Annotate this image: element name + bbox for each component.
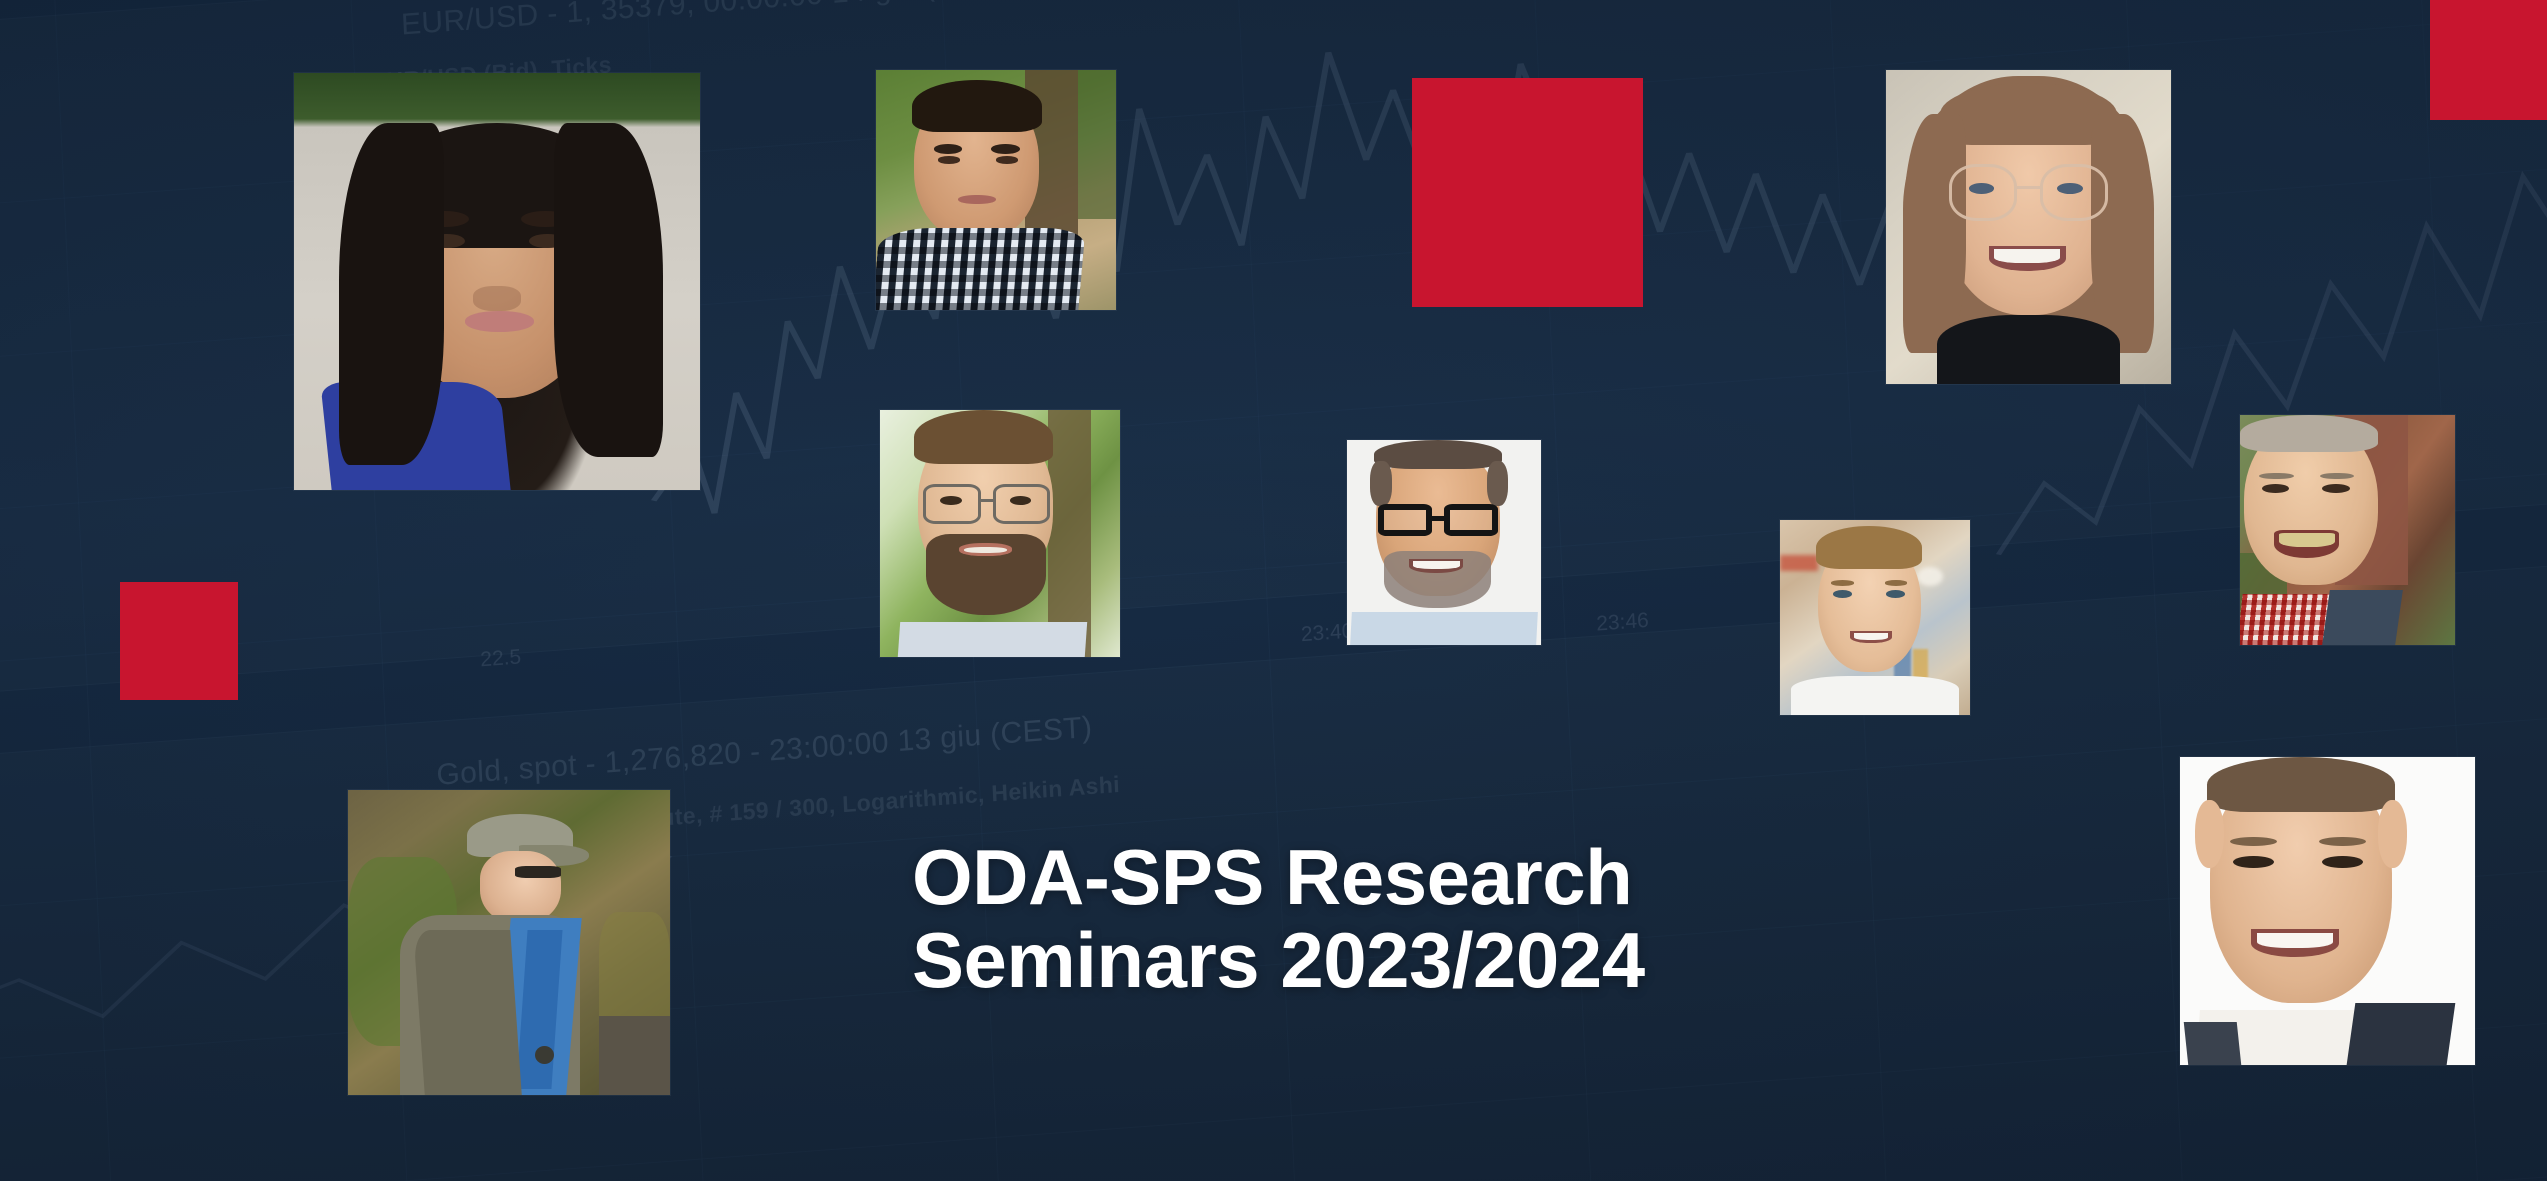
red-square-top-right	[2430, 0, 2547, 120]
title-line-2: Seminars 2023/2024	[912, 919, 1645, 1002]
portrait-man-black-glasses	[1347, 440, 1541, 645]
portrait-woman-glasses	[1886, 70, 2171, 384]
portrait-man-suit	[2180, 757, 2475, 1065]
portrait-man-checked-shirt	[876, 70, 1116, 310]
chart-time-tick: 23:46	[1595, 608, 1649, 636]
red-square-left	[120, 582, 238, 700]
banner-title: ODA-SPS Research Seminars 2023/2024	[912, 836, 1645, 1001]
portrait-man-beard-glasses	[880, 410, 1120, 657]
title-line-1: ODA-SPS Research	[912, 836, 1645, 919]
chart-time-tick: 23:40	[1300, 619, 1354, 647]
seminar-banner: EUR/USD - 1, 35379, 00:00:00 14 giu (CES…	[0, 0, 2547, 1181]
portrait-woman-dark-hair	[294, 73, 700, 490]
red-square-center	[1412, 78, 1643, 307]
chart-price-tick: 22.5	[479, 645, 521, 672]
portrait-man-red-check	[2240, 415, 2455, 645]
portrait-young-man-blond	[1780, 520, 1970, 715]
portrait-man-flat-cap	[348, 790, 670, 1095]
